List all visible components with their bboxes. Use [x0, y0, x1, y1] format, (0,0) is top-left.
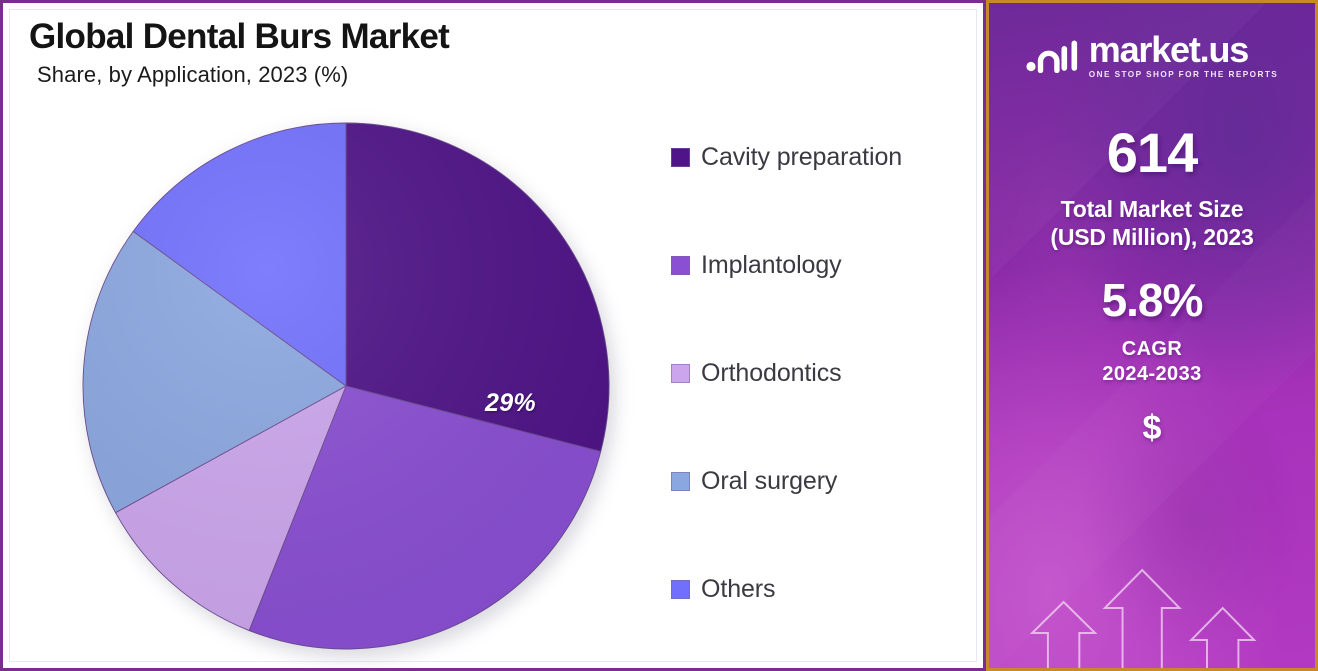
legend-swatch-icon: [671, 580, 690, 599]
pie-slice-value-label: 29%: [485, 389, 536, 418]
brand-logo-text: market.us ONE STOP SHOP FOR THE REPORTS: [1089, 33, 1278, 79]
cagr-caption-line-1: CAGR: [1003, 337, 1301, 362]
chart-card: Global Dental Burs Market Share, by Appl…: [0, 0, 986, 671]
legend-swatch-icon: [671, 256, 690, 275]
chart-titles: Global Dental Burs Market Share, by Appl…: [29, 17, 669, 88]
legend-item-label: Orthodontics: [701, 359, 842, 388]
brand-logo[interactable]: market.us ONE STOP SHOP FOR THE REPORTS: [1003, 33, 1301, 79]
legend-item-cavity-preparation[interactable]: Cavity preparation: [671, 103, 971, 211]
stat-panel-content: market.us ONE STOP SHOP FOR THE REPORTS …: [989, 3, 1315, 445]
legend-item-label: Others: [701, 575, 775, 604]
cagr-value: 5.8%: [1003, 277, 1301, 323]
market-size-value: 614: [1003, 125, 1301, 181]
page-title: Global Dental Burs Market: [29, 17, 669, 56]
market-size-caption-line-1: Total Market Size: [1003, 195, 1301, 223]
brand-tagline: ONE STOP SHOP FOR THE REPORTS: [1089, 70, 1278, 79]
legend-swatch-icon: [671, 472, 690, 491]
infographic-root: Global Dental Burs Market Share, by Appl…: [0, 0, 1318, 671]
stat-panel: market.us ONE STOP SHOP FOR THE REPORTS …: [986, 0, 1318, 671]
legend-item-label: Implantology: [701, 251, 842, 280]
growth-arrows-icon: [989, 528, 1315, 668]
legend-item-label: Cavity preparation: [701, 143, 902, 172]
pie-chart: 29%: [81, 121, 617, 657]
market-size-caption: Total Market Size (USD Million), 2023: [1003, 195, 1301, 251]
pie-slice-group: [83, 123, 609, 649]
legend-item-label: Oral surgery: [701, 467, 837, 496]
legend-item-others[interactable]: Others: [671, 535, 971, 643]
legend-swatch-icon: [671, 148, 690, 167]
legend-item-orthodontics[interactable]: Orthodontics: [671, 319, 971, 427]
legend-item-oral-surgery[interactable]: Oral surgery: [671, 427, 971, 535]
market-size-caption-line-2: (USD Million), 2023: [1003, 223, 1301, 251]
legend-swatch-icon: [671, 364, 690, 383]
market-us-logo-icon: [1026, 39, 1080, 73]
cagr-caption-line-2: 2024-2033: [1003, 362, 1301, 387]
legend-item-implantology[interactable]: Implantology: [671, 211, 971, 319]
chart-legend: Cavity preparation Implantology Orthodon…: [671, 103, 971, 643]
pie-svg: [81, 121, 611, 651]
page-subtitle: Share, by Application, 2023 (%): [37, 62, 669, 88]
dollar-sign-icon: $: [1003, 411, 1301, 445]
cagr-caption: CAGR 2024-2033: [1003, 337, 1301, 387]
brand-name: market.us: [1089, 33, 1278, 68]
